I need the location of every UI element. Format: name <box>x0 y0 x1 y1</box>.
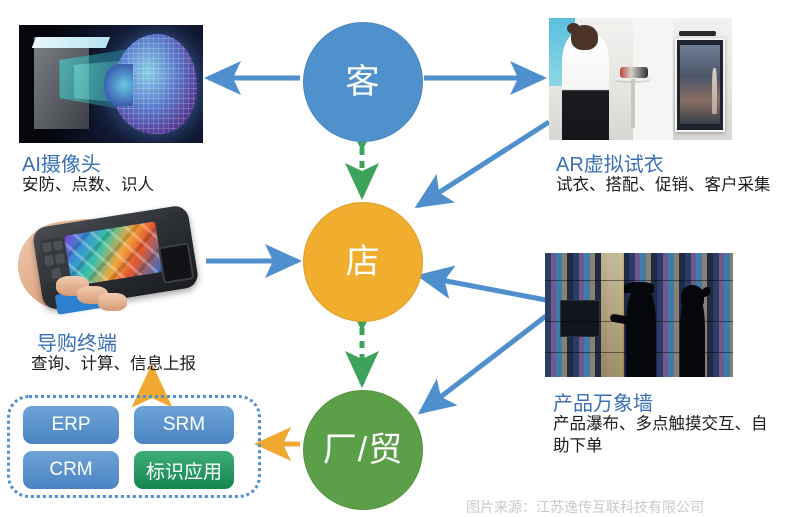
caption-title-ai-camera: AI摄像头 <box>22 148 101 177</box>
caption-body-ai-camera: 安防、点数、识人 <box>22 174 154 196</box>
ar-fitting-photo <box>549 18 732 140</box>
system-tile-crm[interactable]: CRM <box>23 451 119 489</box>
node-store-label: 店 <box>346 245 381 279</box>
node-customer-label: 客 <box>346 65 381 99</box>
connector-wall-to-store <box>420 276 546 300</box>
diagram-canvas: 客 店 厂/贸 AI摄像头 安防、点数、识人 AR虚拟试衣 试衣、搭配、促销、客… <box>0 0 811 512</box>
ai-camera-photo <box>19 25 203 143</box>
caption-body-ar-fitting: 试衣、搭配、促销、客户采集 <box>556 174 771 196</box>
system-tile-srm[interactable]: SRM <box>134 406 234 444</box>
caption-title-guide-pda: 导购终端 <box>37 327 117 356</box>
connector-wall-to-factory <box>421 316 546 412</box>
handheld-terminal-photo <box>14 198 206 323</box>
node-customer[interactable]: 客 <box>303 22 423 142</box>
caption-title-ar-fitting: AR虚拟试衣 <box>556 148 664 177</box>
node-factory[interactable]: 厂/贸 <box>303 390 423 510</box>
connector-ar-to-store <box>418 122 549 206</box>
caption-title-product-wall: 产品万象墙 <box>553 387 653 416</box>
node-factory-label: 厂/贸 <box>323 433 403 467</box>
node-store[interactable]: 店 <box>303 202 423 322</box>
source-watermark: 图片来源：江苏逸传互联科技有限公司 <box>466 497 704 517</box>
product-wall-photo <box>545 253 733 377</box>
system-tile-identification-app[interactable]: 标识应用 <box>134 451 234 489</box>
caption-body-product-wall: 产品瀑布、多点触摸交互、自助下单 <box>553 413 768 458</box>
system-tile-erp[interactable]: ERP <box>23 406 119 444</box>
caption-body-guide-pda: 查询、计算、信息上报 <box>31 353 196 375</box>
